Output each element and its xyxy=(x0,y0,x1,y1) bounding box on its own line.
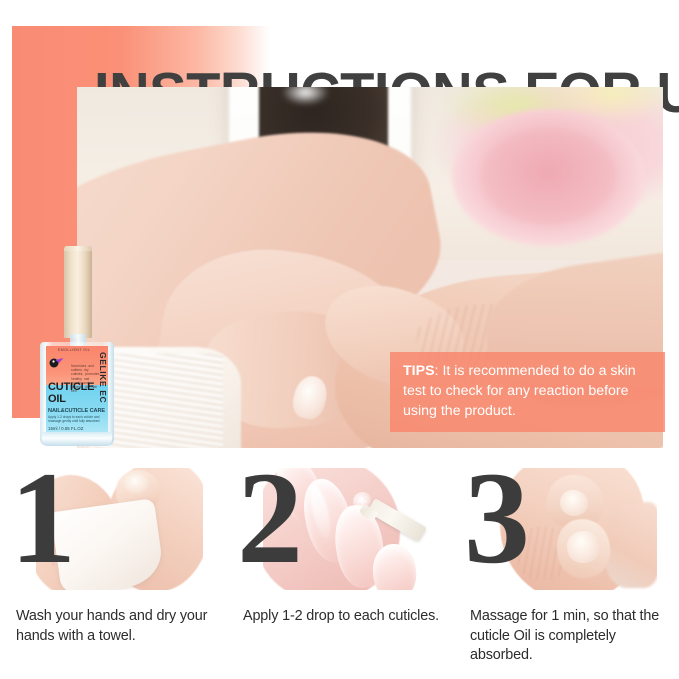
steps-row: 1 Wash your hands and dry your hands wit… xyxy=(0,466,679,679)
product-bottle: EMOLLIENT OIL GELIKE EC Nourishes and so… xyxy=(40,246,114,446)
label-fine-print: Apply 1-2 drops to each cuticle and mass… xyxy=(48,415,104,423)
step-1-caption: Wash your hands and dry your hands with … xyxy=(16,607,224,646)
pink-bowl-inner xyxy=(481,130,616,224)
toucan-logo-icon xyxy=(49,357,64,368)
label-name-line1: CUTICLE xyxy=(48,381,94,393)
label-kicker: EMOLLIENT OIL xyxy=(58,348,90,352)
step-1: 1 Wash your hands and dry your hands wit… xyxy=(0,466,226,679)
bottle-wooden-cap xyxy=(64,246,92,338)
label-subtitle: NAIL&CUTICLE CARE xyxy=(48,408,105,414)
step-2-number: 2 xyxy=(237,452,303,584)
step-3-number: 3 xyxy=(464,452,530,584)
step-2-caption: Apply 1-2 drop to each cuticles. xyxy=(243,607,451,627)
step-2: 2 Apply 1-2 drop to each cuticles. xyxy=(227,466,453,679)
bottle-label: EMOLLIENT OIL GELIKE EC Nourishes and so… xyxy=(46,346,108,434)
label-volume: 15ml / 0.55 FL.OZ xyxy=(48,426,83,431)
step3-palm-edge xyxy=(604,502,657,587)
step-3: 3 Massage for 1 min, so that the cuticle… xyxy=(454,466,679,679)
step1-thumb-nail xyxy=(123,473,150,494)
bottle-cap-top xyxy=(64,246,92,251)
tips-label: TIPS xyxy=(403,363,435,379)
step-1-number: 1 xyxy=(10,452,76,584)
step-3-caption: Massage for 1 min, so that the cuticle O… xyxy=(470,607,678,666)
label-name-line2: OIL xyxy=(48,393,66,405)
tips-callout: TIPS: It is recommended to do a skin tes… xyxy=(390,352,665,432)
label-product-name: CUTICLEOIL xyxy=(48,382,94,405)
uv-lamp-highlight xyxy=(282,87,329,105)
step2-sparkle-icon xyxy=(358,497,366,506)
